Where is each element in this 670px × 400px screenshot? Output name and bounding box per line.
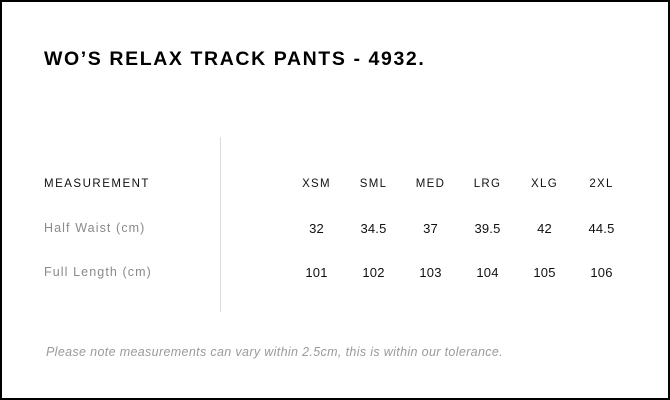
cell-half-waist-lrg: 39.5	[459, 206, 516, 250]
column-header-sml: SML	[345, 162, 402, 206]
cell-full-length-med: 103	[402, 250, 459, 294]
cell-full-length-xlg: 105	[516, 250, 573, 294]
column-header-2xl: 2XL	[573, 162, 630, 206]
cell-half-waist-xlg: 42	[516, 206, 573, 250]
column-header-xlg: XLG	[516, 162, 573, 206]
cell-half-waist-2xl: 44.5	[573, 206, 630, 250]
table-header-row: MEASUREMENT XSM SML MED LRG XLG 2XL	[44, 162, 630, 206]
cell-full-length-2xl: 106	[573, 250, 630, 294]
page-title: WO’S RELAX TRACK PANTS - 4932.	[44, 48, 425, 71]
table-row: Full Length (cm) 101 102 103 104 105 106	[44, 250, 630, 294]
cell-full-length-sml: 102	[345, 250, 402, 294]
cell-half-waist-med: 37	[402, 206, 459, 250]
row-label-half-waist: Half Waist (cm)	[44, 206, 288, 250]
cell-full-length-lrg: 104	[459, 250, 516, 294]
tolerance-note: Please note measurements can vary within…	[46, 345, 503, 359]
column-header-measurement: MEASUREMENT	[44, 162, 288, 206]
column-header-lrg: LRG	[459, 162, 516, 206]
column-header-med: MED	[402, 162, 459, 206]
size-chart-page: WO’S RELAX TRACK PANTS - 4932. MEASUREME…	[0, 0, 670, 400]
size-chart-table: MEASUREMENT XSM SML MED LRG XLG 2XL Half…	[44, 162, 630, 294]
column-header-xsm: XSM	[288, 162, 345, 206]
table-row: Half Waist (cm) 32 34.5 37 39.5 42 44.5	[44, 206, 630, 250]
row-label-full-length: Full Length (cm)	[44, 250, 288, 294]
cell-half-waist-sml: 34.5	[345, 206, 402, 250]
cell-half-waist-xsm: 32	[288, 206, 345, 250]
cell-full-length-xsm: 101	[288, 250, 345, 294]
